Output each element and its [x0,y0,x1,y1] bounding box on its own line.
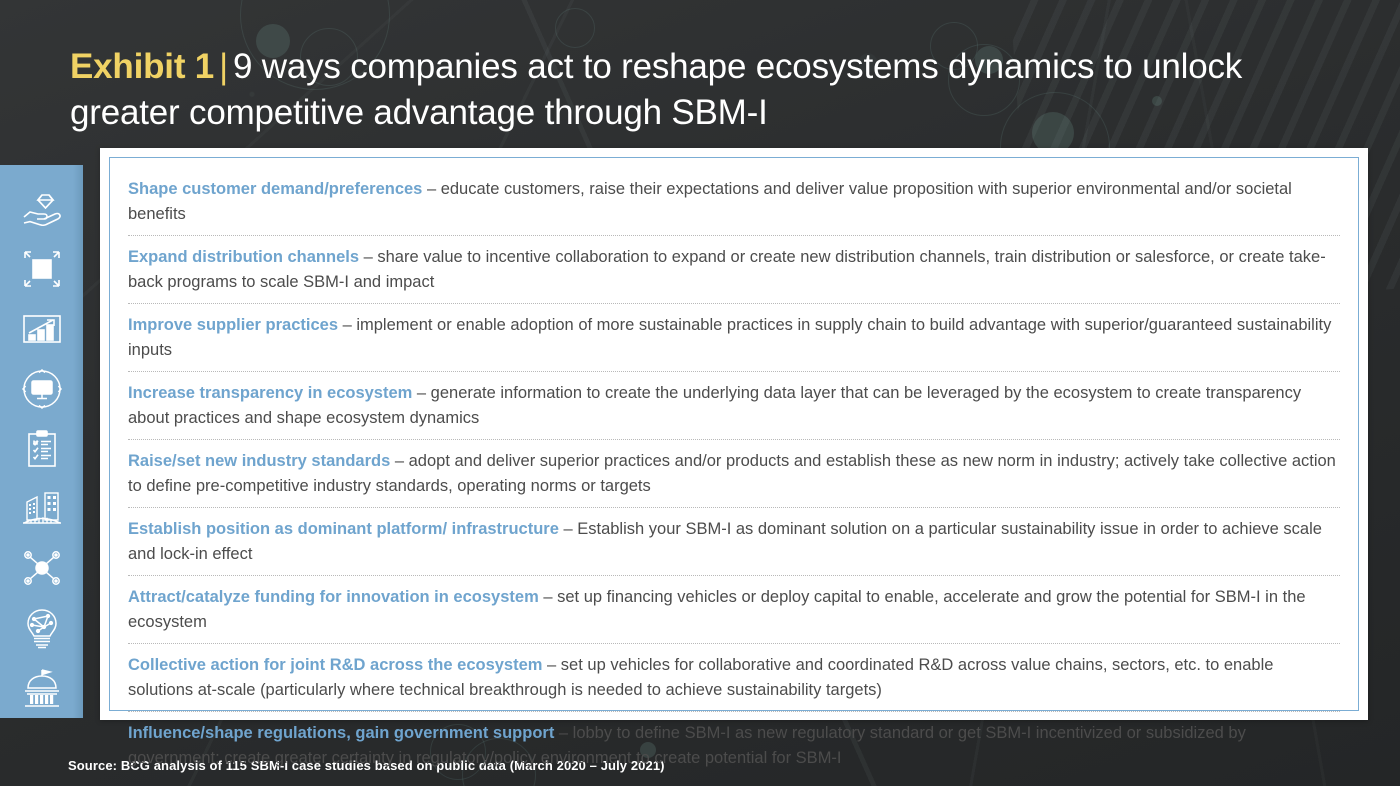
clipboard-checklist-icon [25,429,59,469]
sidebar-item-shape-customer-demand[interactable] [12,179,72,239]
list-item-lead: Improve supplier practices [128,316,338,334]
page-title: Exhibit 1|9 ways companies act to reshap… [70,44,1360,136]
network-nodes-icon [22,549,62,587]
list-item[interactable]: Influence/shape regulations, gain govern… [128,712,1340,779]
list-item-lead: Attract/catalyze funding for innovation … [128,588,539,606]
list-item[interactable]: Establish position as dominant platform/… [128,508,1340,576]
list-item[interactable]: Shape customer demand/preferences – educ… [128,168,1340,236]
hand-holding-diamond-icon [22,192,62,226]
city-buildings-icon [21,490,63,526]
list-item-lead: Increase transparency in ecosystem [128,384,412,402]
content-card: Shape customer demand/preferences – educ… [100,148,1368,720]
list-item-lead: Shape customer demand/preferences [128,180,422,198]
list-item[interactable]: Increase transparency in ecosystem – gen… [128,372,1340,440]
sidebar-item-influence-regulations[interactable] [12,658,72,718]
list-item-lead: Raise/set new industry standards [128,452,390,470]
lightbulb-network-icon [24,607,60,649]
sidebar-item-improve-supplier-practices[interactable] [12,299,72,359]
title-separator: | [214,47,233,86]
sidebar-item-attract-funding[interactable] [12,538,72,598]
title-text: 9 ways companies act to reshape ecosyste… [70,47,1242,132]
list-item[interactable]: Improve supplier practices – implement o… [128,304,1340,372]
exhibit-label: Exhibit 1 [70,47,214,86]
sidebar-item-dominant-platform[interactable] [12,478,72,538]
sidebar-item-increase-transparency[interactable] [12,359,72,419]
sidebar-item-collective-action-rnd[interactable] [12,598,72,658]
list-item-lead: Establish position as dominant platform/… [128,520,559,538]
list-item-lead: Influence/shape regulations, gain govern… [128,724,554,742]
list-item[interactable]: Collective action for joint R&D across t… [128,644,1340,712]
list-item[interactable]: Attract/catalyze funding for innovation … [128,576,1340,644]
expand-arrows-square-icon [22,249,62,289]
list-item-lead: Expand distribution channels [128,248,359,266]
government-building-icon [22,668,62,708]
sidebar-item-raise-industry-standards[interactable] [12,419,72,479]
slide-header: Exhibit 1|9 ways companies act to reshap… [0,0,1400,152]
list-item[interactable]: Expand distribution channels – share val… [128,236,1340,304]
content-card-inner: Shape customer demand/preferences – educ… [109,157,1359,711]
list-item[interactable]: Raise/set new industry standards – adopt… [128,440,1340,508]
sidebar-item-expand-distribution[interactable] [12,239,72,299]
sidebar-icon-rail [0,165,83,718]
list-item-lead: Collective action for joint R&D across t… [128,656,542,674]
bar-chart-growth-icon [22,313,62,345]
monitor-refresh-cycle-icon [21,368,63,410]
